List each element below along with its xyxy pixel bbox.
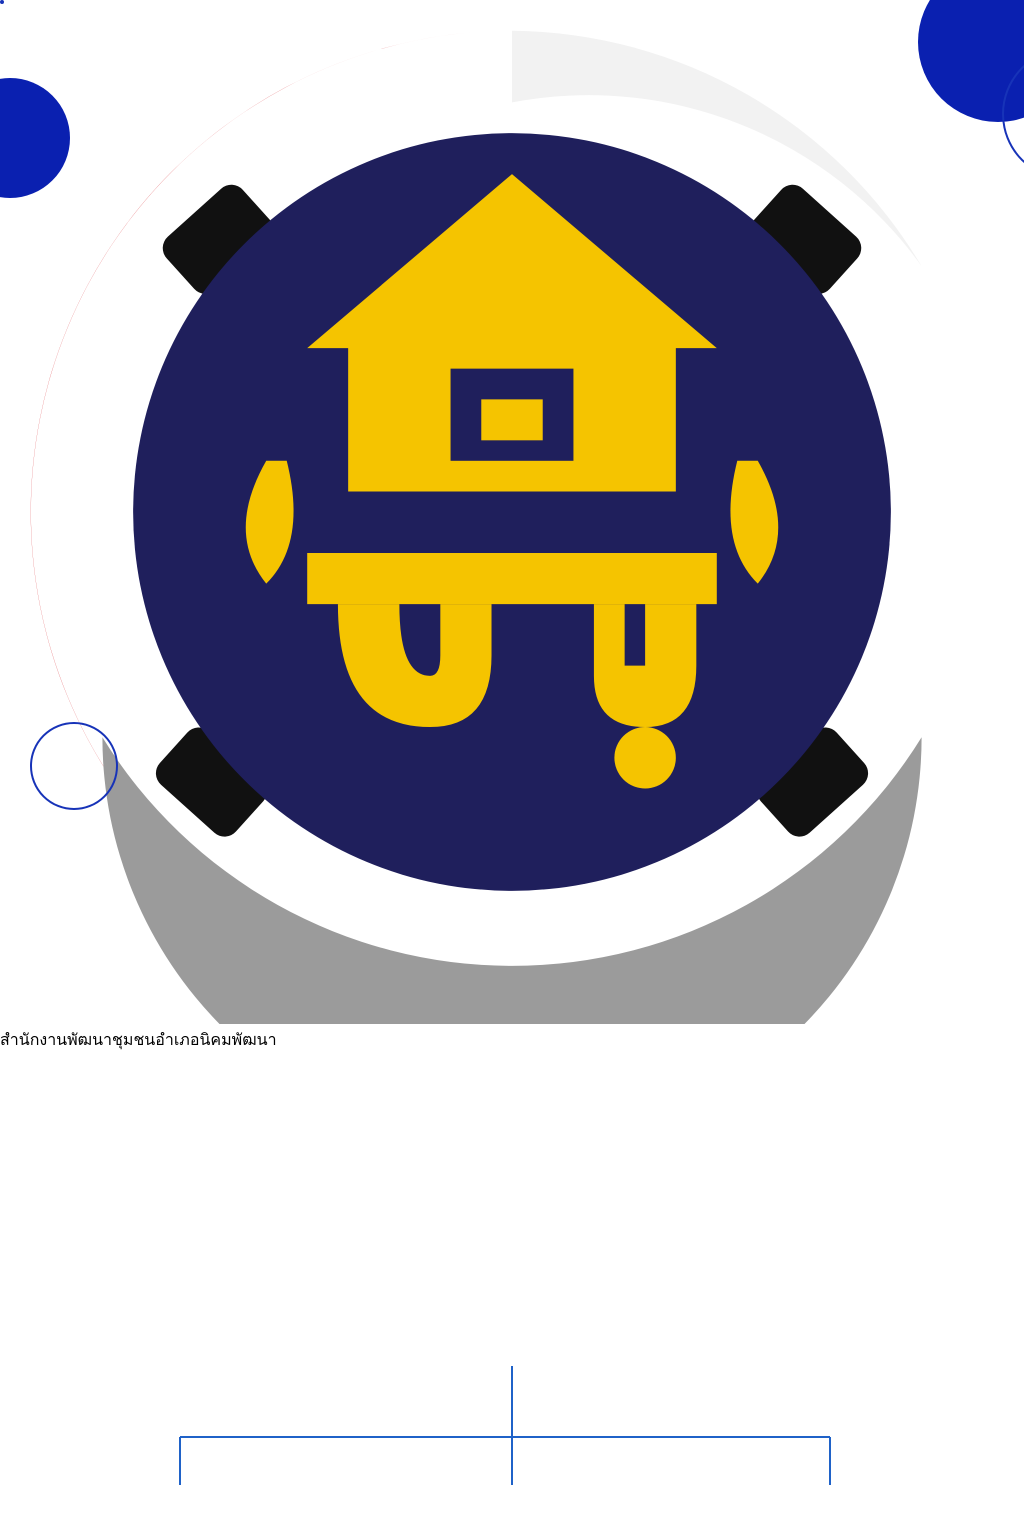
cdd-thai-pavilion-emblem-icon xyxy=(0,0,1024,1024)
page-header: สำนักงานพัฒนาชุมชนอำเภอนิคมพัฒนา xyxy=(0,0,1024,1053)
page-title: สำนักงานพัฒนาชุมชนอำเภอนิคมพัฒนา xyxy=(0,1028,1024,1053)
org-chart: พัฒนาการอำเภอ xyxy=(0,1053,1024,1536)
org-chart-connectors xyxy=(0,1053,1024,1536)
